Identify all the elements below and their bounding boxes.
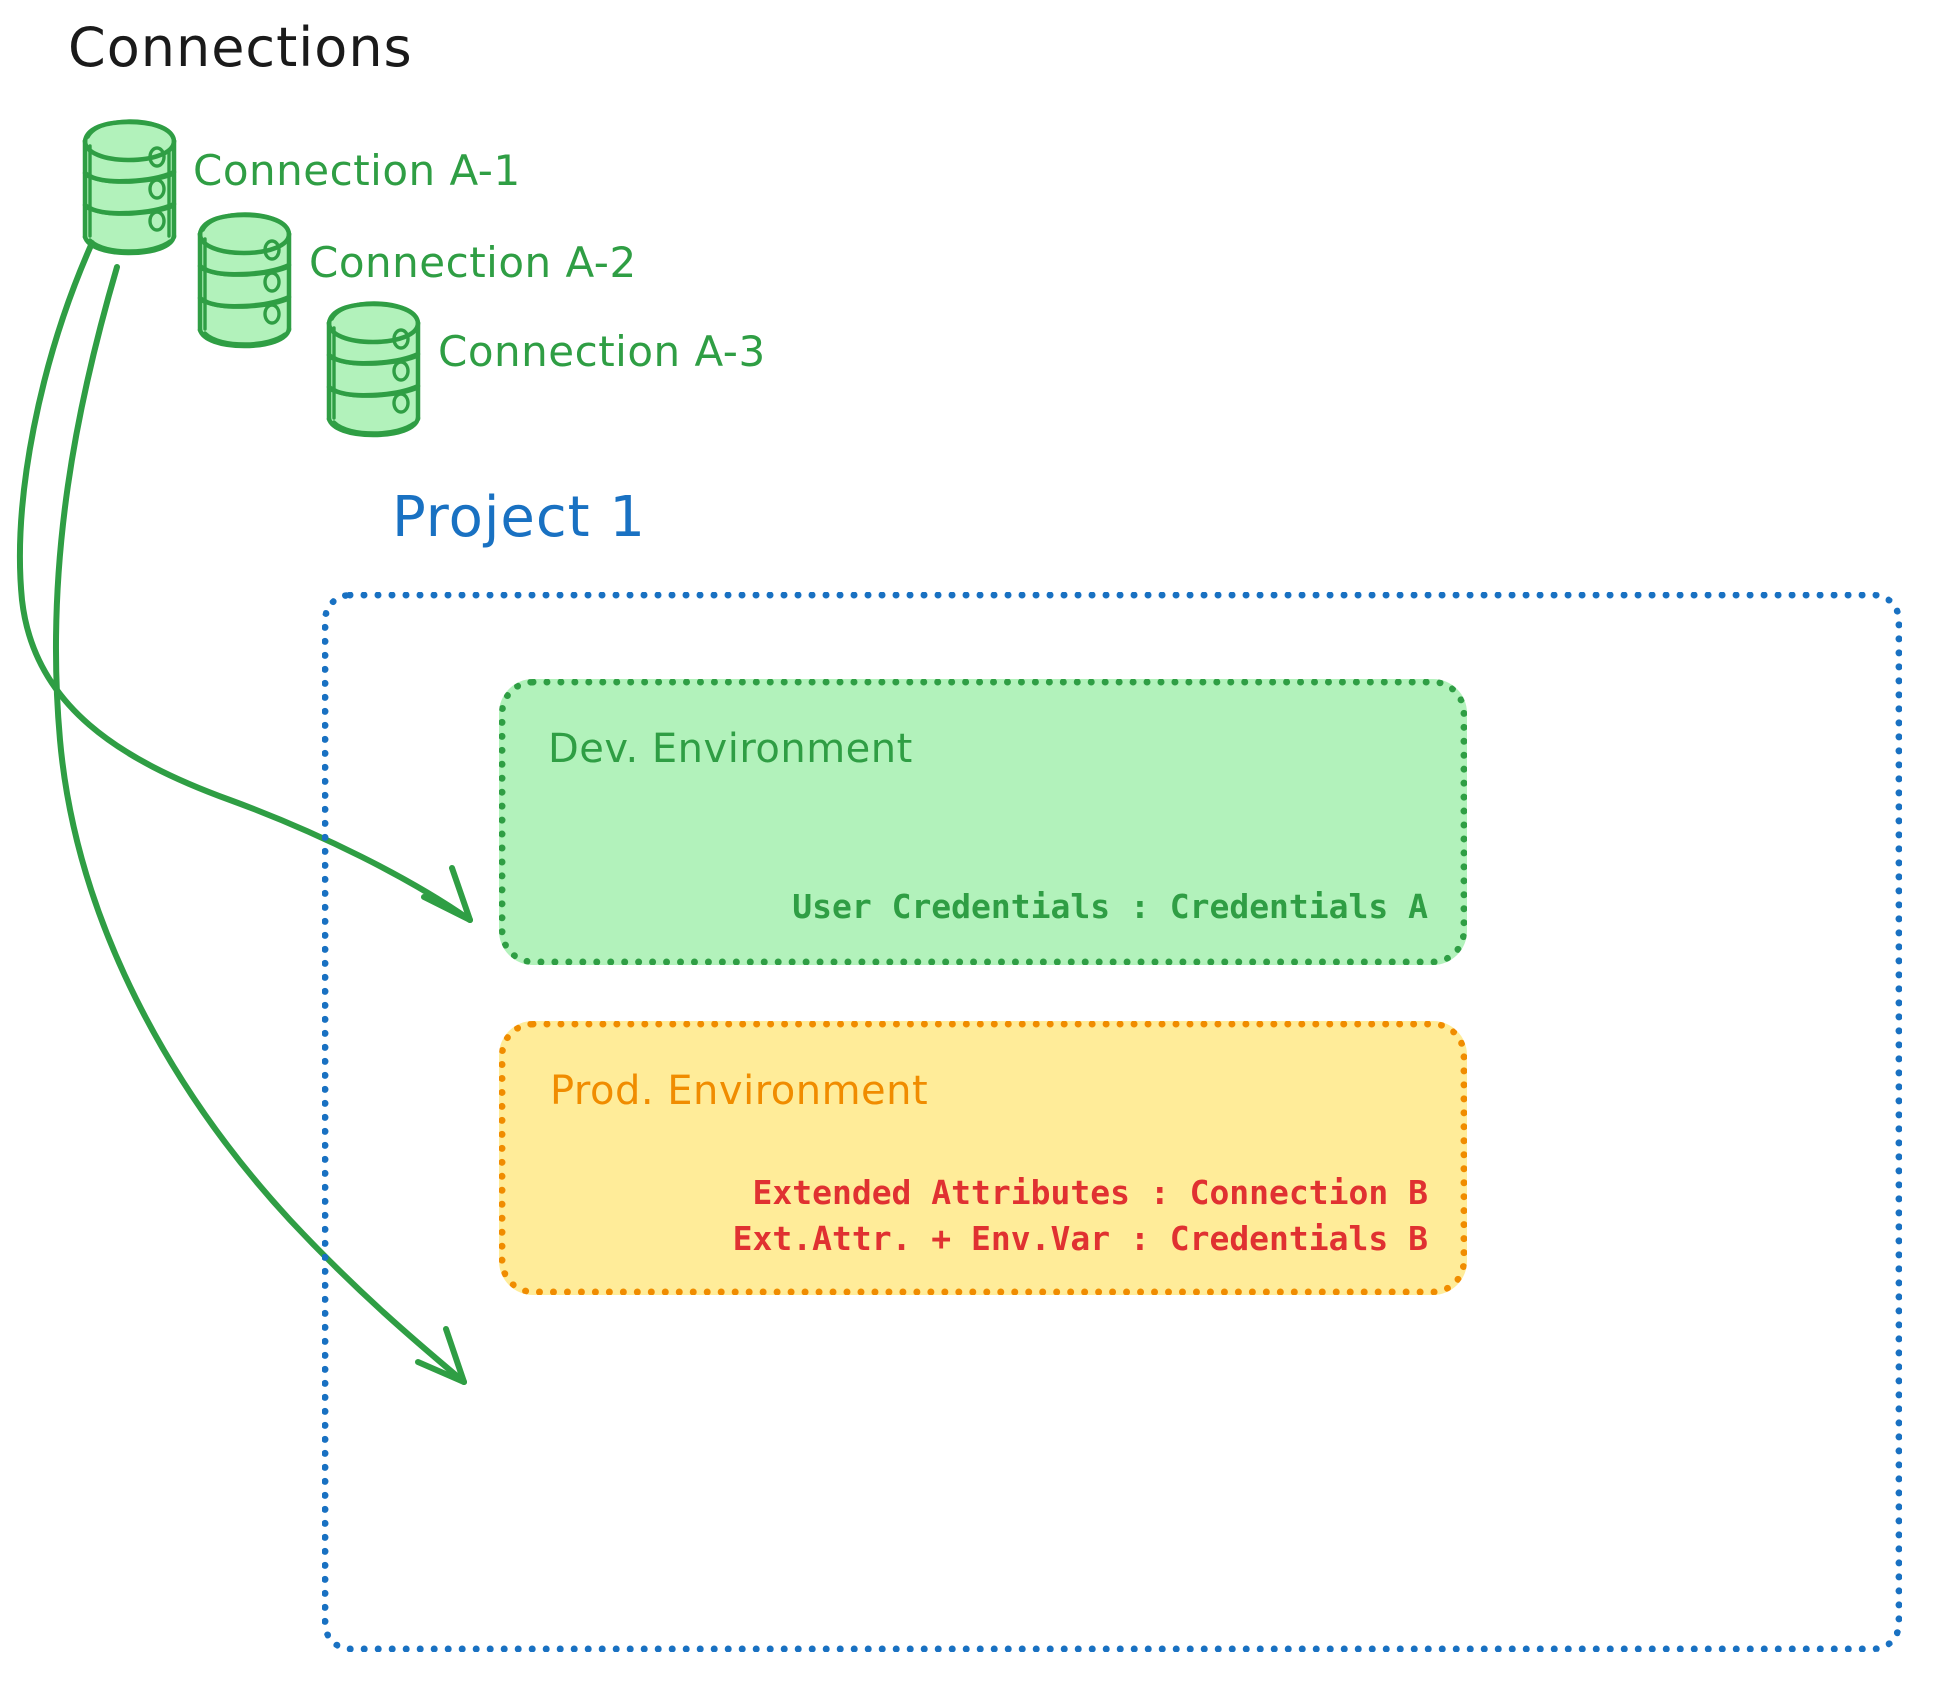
dev-environment-box[interactable]: Dev. Environment User Credentials : Cred… (499, 679, 1467, 965)
project-title: Project 1 (392, 485, 646, 550)
dev-detail-line-1: User Credentials : Credentials A (792, 884, 1428, 930)
connection-label-a3[interactable]: Connection A-3 (438, 327, 766, 376)
prod-environment-details: Extended Attributes : Connection B Ext.A… (733, 1170, 1428, 1262)
prod-detail-line-2: Ext.Attr. + Env.Var : Credentials B (733, 1216, 1428, 1262)
prod-environment-title: Prod. Environment (550, 1068, 928, 1114)
connection-label-a1[interactable]: Connection A-1 (193, 146, 521, 195)
diagram-canvas: .cyl-fill { fill: #b2f2bb; } .cyl-stroke… (0, 0, 1938, 1691)
database-cylinder-icon-a1[interactable] (85, 121, 174, 253)
connection-label-a2[interactable]: Connection A-2 (309, 238, 637, 287)
prod-detail-line-1: Extended Attributes : Connection B (733, 1170, 1428, 1216)
dev-environment-title: Dev. Environment (548, 726, 913, 772)
project-boundary-box: Dev. Environment User Credentials : Cred… (322, 592, 1902, 1652)
database-cylinder-icon-a2[interactable] (200, 214, 289, 346)
prod-environment-box[interactable]: Prod. Environment Extended Attributes : … (499, 1021, 1467, 1295)
connections-title: Connections (68, 16, 413, 79)
database-cylinder-icon-a3[interactable] (329, 303, 418, 435)
dev-environment-details: User Credentials : Credentials A (792, 884, 1428, 930)
